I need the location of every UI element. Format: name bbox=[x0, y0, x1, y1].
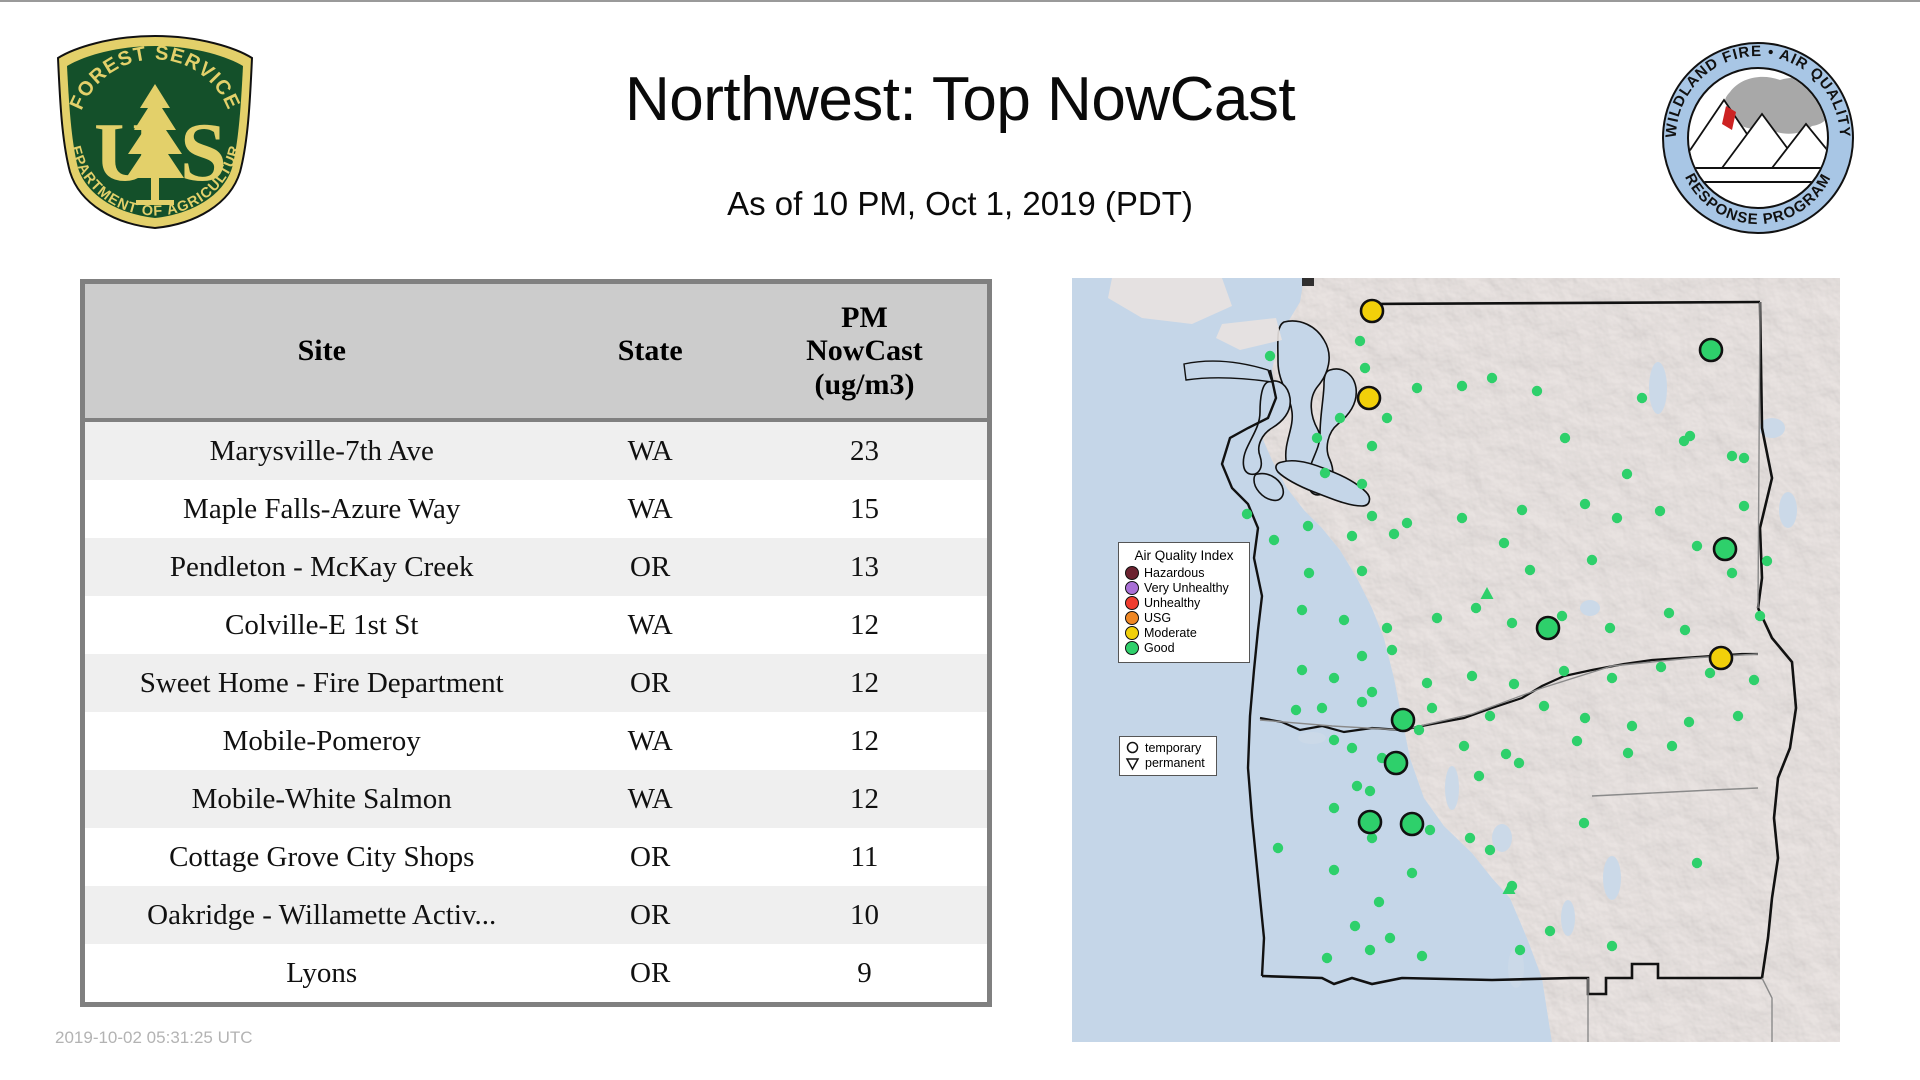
aqi-legend-item: Very Unhealthy bbox=[1125, 581, 1243, 595]
cell-pm: 13 bbox=[742, 538, 987, 596]
site-marker-good[interactable] bbox=[1517, 505, 1527, 515]
site-marker-good[interactable] bbox=[1755, 611, 1765, 621]
site-marker-good[interactable] bbox=[1727, 568, 1737, 578]
site-marker-good[interactable] bbox=[1509, 679, 1519, 689]
page-title: Northwest: Top NowCast bbox=[0, 64, 1920, 135]
site-marker-good[interactable] bbox=[1427, 703, 1437, 713]
aqi-legend-label: Very Unhealthy bbox=[1144, 582, 1229, 595]
aqi-legend-item: Hazardous bbox=[1125, 566, 1243, 580]
aqi-legend-item: USG bbox=[1125, 611, 1243, 625]
site-marker-good[interactable] bbox=[1339, 615, 1349, 625]
site-marker-good[interactable] bbox=[1762, 556, 1772, 566]
generated-timestamp: 2019-10-02 05:31:25 UTC bbox=[55, 1028, 253, 1048]
site-marker-good[interactable] bbox=[1667, 741, 1677, 751]
site-marker-good[interactable] bbox=[1422, 678, 1432, 688]
site-marker-highlighted[interactable] bbox=[1401, 813, 1423, 835]
aqi-color-swatch-icon bbox=[1125, 611, 1139, 625]
aqi-legend-label: Hazardous bbox=[1144, 567, 1204, 580]
site-marker-good[interactable] bbox=[1432, 613, 1442, 623]
site-marker-good[interactable] bbox=[1487, 373, 1497, 383]
site-marker-good[interactable] bbox=[1367, 833, 1377, 843]
site-marker-highlighted[interactable] bbox=[1392, 709, 1414, 731]
site-marker-good[interactable] bbox=[1607, 941, 1617, 951]
site-marker-good[interactable] bbox=[1329, 803, 1339, 813]
site-marker-good[interactable] bbox=[1607, 673, 1617, 683]
site-marker-good[interactable] bbox=[1572, 736, 1582, 746]
cell-state: OR bbox=[558, 654, 742, 712]
table-row[interactable]: Marysville-7th AveWA23 bbox=[85, 420, 987, 480]
site-marker-good[interactable] bbox=[1559, 666, 1569, 676]
site-marker-highlighted[interactable] bbox=[1700, 339, 1722, 361]
site-marker-good[interactable] bbox=[1637, 393, 1647, 403]
site-marker-good[interactable] bbox=[1425, 825, 1435, 835]
cell-state: WA bbox=[558, 596, 742, 654]
site-marker-good[interactable] bbox=[1335, 413, 1345, 423]
cell-state: OR bbox=[558, 538, 742, 596]
site-marker-good[interactable] bbox=[1685, 431, 1695, 441]
site-marker-good[interactable] bbox=[1465, 833, 1475, 843]
aqi-color-swatch-icon bbox=[1125, 596, 1139, 610]
site-marker-good[interactable] bbox=[1402, 518, 1412, 528]
cell-state: OR bbox=[558, 828, 742, 886]
site-marker-highlighted[interactable] bbox=[1359, 811, 1381, 833]
site-marker-highlighted[interactable] bbox=[1358, 387, 1380, 409]
cell-site: Sweet Home - Fire Department bbox=[85, 654, 558, 712]
site-marker-good[interactable] bbox=[1297, 665, 1307, 675]
table-row[interactable]: Colville-E 1st StWA12 bbox=[85, 596, 987, 654]
site-marker-good[interactable] bbox=[1539, 701, 1549, 711]
site-marker-good[interactable] bbox=[1580, 499, 1590, 509]
site-marker-good[interactable] bbox=[1352, 781, 1362, 791]
site-marker-good[interactable] bbox=[1705, 668, 1715, 678]
site-marker-good[interactable] bbox=[1739, 501, 1749, 511]
cell-site: Pendleton - McKay Creek bbox=[85, 538, 558, 596]
table-row[interactable]: Oakridge - Willamette Activ...OR10 bbox=[85, 886, 987, 944]
site-marker-good[interactable] bbox=[1501, 749, 1511, 759]
site-marker-good[interactable] bbox=[1273, 843, 1283, 853]
cell-pm: 10 bbox=[742, 886, 987, 944]
site-marker-good[interactable] bbox=[1471, 603, 1481, 613]
site-marker-good[interactable] bbox=[1304, 568, 1314, 578]
legend-temporary: temporary bbox=[1125, 741, 1211, 756]
aqi-legend-item: Moderate bbox=[1125, 626, 1243, 640]
site-marker-good[interactable] bbox=[1320, 468, 1330, 478]
site-marker-good[interactable] bbox=[1265, 351, 1275, 361]
site-marker-good[interactable] bbox=[1317, 703, 1327, 713]
site-marker-good[interactable] bbox=[1407, 868, 1417, 878]
cell-state: WA bbox=[558, 770, 742, 828]
site-marker-good[interactable] bbox=[1692, 858, 1702, 868]
site-marker-good[interactable] bbox=[1485, 711, 1495, 721]
site-marker-good[interactable] bbox=[1525, 565, 1535, 575]
site-marker-good[interactable] bbox=[1545, 926, 1555, 936]
cell-site: Marysville-7th Ave bbox=[85, 420, 558, 480]
site-marker-good[interactable] bbox=[1414, 725, 1424, 735]
pm-header-line2: NowCast bbox=[746, 334, 983, 368]
site-marker-good[interactable] bbox=[1367, 511, 1377, 521]
site-marker-good[interactable] bbox=[1291, 705, 1301, 715]
aqi-legend-label: Moderate bbox=[1144, 627, 1197, 640]
site-marker-good[interactable] bbox=[1587, 555, 1597, 565]
site-marker-good[interactable] bbox=[1749, 675, 1759, 685]
table-row[interactable]: Cottage Grove City ShopsOR11 bbox=[85, 828, 987, 886]
site-marker-good[interactable] bbox=[1303, 521, 1313, 531]
site-marker-good[interactable] bbox=[1355, 336, 1365, 346]
site-marker-good[interactable] bbox=[1560, 433, 1570, 443]
site-marker-good[interactable] bbox=[1365, 786, 1375, 796]
cell-site: Oakridge - Willamette Activ... bbox=[85, 886, 558, 944]
pm-header-line1: PM bbox=[746, 301, 983, 335]
cell-pm: 12 bbox=[742, 654, 987, 712]
site-marker-good[interactable] bbox=[1382, 623, 1392, 633]
cell-state: WA bbox=[558, 420, 742, 480]
site-marker-good[interactable] bbox=[1627, 721, 1637, 731]
site-marker-good[interactable] bbox=[1322, 953, 1332, 963]
aqi-color-swatch-icon bbox=[1125, 626, 1139, 640]
site-marker-good[interactable] bbox=[1622, 469, 1632, 479]
site-marker-good[interactable] bbox=[1357, 651, 1367, 661]
site-marker-good[interactable] bbox=[1329, 673, 1339, 683]
table-row[interactable]: Sweet Home - Fire DepartmentOR12 bbox=[85, 654, 987, 712]
site-type-legend: temporary permanent bbox=[1119, 736, 1217, 776]
circle-icon bbox=[1125, 741, 1140, 756]
site-marker-good[interactable] bbox=[1367, 441, 1377, 451]
site-marker-highlighted[interactable] bbox=[1537, 617, 1559, 639]
legend-temporary-label: temporary bbox=[1145, 742, 1201, 755]
cell-pm: 12 bbox=[742, 596, 987, 654]
site-marker-highlighted[interactable] bbox=[1714, 538, 1736, 560]
site-marker-good[interactable] bbox=[1457, 513, 1467, 523]
table-row[interactable]: LyonsOR9 bbox=[85, 944, 987, 1002]
table-header-row: Site State PM NowCast (ug/m3) bbox=[85, 284, 987, 420]
aqi-legend: Air Quality Index HazardousVery Unhealth… bbox=[1118, 542, 1250, 663]
cell-pm: 11 bbox=[742, 828, 987, 886]
site-marker-good[interactable] bbox=[1515, 945, 1525, 955]
site-marker-good[interactable] bbox=[1485, 845, 1495, 855]
site-marker-good[interactable] bbox=[1297, 605, 1307, 615]
site-marker-good[interactable] bbox=[1242, 509, 1252, 519]
site-marker-good[interactable] bbox=[1347, 743, 1357, 753]
site-marker-good[interactable] bbox=[1459, 741, 1469, 751]
site-marker-good[interactable] bbox=[1474, 771, 1484, 781]
cell-pm: 9 bbox=[742, 944, 987, 1002]
air-quality-map[interactable]: Air Quality Index HazardousVery Unhealth… bbox=[1072, 278, 1840, 1042]
cell-state: WA bbox=[558, 712, 742, 770]
site-marker-good[interactable] bbox=[1347, 531, 1357, 541]
site-marker-good[interactable] bbox=[1365, 945, 1375, 955]
site-marker-good[interactable] bbox=[1417, 951, 1427, 961]
site-marker-good[interactable] bbox=[1580, 713, 1590, 723]
site-marker-good[interactable] bbox=[1357, 566, 1367, 576]
cell-site: Mobile-Pomeroy bbox=[85, 712, 558, 770]
site-marker-good[interactable] bbox=[1387, 645, 1397, 655]
site-marker-good[interactable] bbox=[1532, 386, 1542, 396]
site-marker-good[interactable] bbox=[1382, 413, 1392, 423]
cell-site: Mobile-White Salmon bbox=[85, 770, 558, 828]
site-marker-good[interactable] bbox=[1656, 662, 1666, 672]
site-marker-good[interactable] bbox=[1579, 818, 1589, 828]
site-marker-good[interactable] bbox=[1360, 363, 1370, 373]
site-marker-good[interactable] bbox=[1357, 479, 1367, 489]
legend-permanent-label: permanent bbox=[1145, 757, 1205, 770]
site-marker-good[interactable] bbox=[1507, 618, 1517, 628]
site-marker-good[interactable] bbox=[1412, 383, 1422, 393]
column-header-state[interactable]: State bbox=[558, 284, 742, 420]
site-marker-good[interactable] bbox=[1739, 453, 1749, 463]
site-marker-good[interactable] bbox=[1312, 433, 1322, 443]
site-marker-good[interactable] bbox=[1457, 381, 1467, 391]
site-marker-good[interactable] bbox=[1733, 711, 1743, 721]
cell-state: OR bbox=[558, 944, 742, 1002]
aqi-legend-item: Good bbox=[1125, 641, 1243, 655]
site-marker-good[interactable] bbox=[1655, 506, 1665, 516]
site-marker-good[interactable] bbox=[1684, 717, 1694, 727]
site-marker-good[interactable] bbox=[1389, 529, 1399, 539]
site-marker-good[interactable] bbox=[1329, 735, 1339, 745]
aqi-color-swatch-icon bbox=[1125, 566, 1139, 580]
slide-root: FOREST SERVICE U S DEPARTMENT OF AGRICUL… bbox=[0, 2, 1920, 1080]
site-marker-good[interactable] bbox=[1692, 541, 1702, 551]
site-marker-good[interactable] bbox=[1385, 933, 1395, 943]
cell-state: WA bbox=[558, 480, 742, 538]
site-marker-good[interactable] bbox=[1499, 538, 1509, 548]
triangle-icon bbox=[1125, 756, 1140, 771]
site-marker-good[interactable] bbox=[1612, 513, 1622, 523]
table-row[interactable]: Mobile-PomeroyWA12 bbox=[85, 712, 987, 770]
column-header-pm-nowcast[interactable]: PM NowCast (ug/m3) bbox=[742, 284, 987, 420]
site-marker-good[interactable] bbox=[1623, 748, 1633, 758]
cell-site: Colville-E 1st St bbox=[85, 596, 558, 654]
site-marker-good[interactable] bbox=[1374, 897, 1384, 907]
aqi-legend-label: USG bbox=[1144, 612, 1171, 625]
column-header-site[interactable]: Site bbox=[85, 284, 558, 420]
site-marker-highlighted[interactable] bbox=[1710, 647, 1732, 669]
top-nowcast-table: Site State PM NowCast (ug/m3) Marysville… bbox=[80, 279, 992, 1007]
table-row[interactable]: Pendleton - McKay CreekOR13 bbox=[85, 538, 987, 596]
site-marker-good[interactable] bbox=[1269, 535, 1279, 545]
cell-state: OR bbox=[558, 886, 742, 944]
cell-site: Cottage Grove City Shops bbox=[85, 828, 558, 886]
site-marker-good[interactable] bbox=[1367, 687, 1377, 697]
site-marker-good[interactable] bbox=[1329, 865, 1339, 875]
site-marker-highlighted[interactable] bbox=[1385, 752, 1407, 774]
cell-pm: 15 bbox=[742, 480, 987, 538]
cell-site: Maple Falls-Azure Way bbox=[85, 480, 558, 538]
cell-pm: 12 bbox=[742, 770, 987, 828]
cell-site: Lyons bbox=[85, 944, 558, 1002]
aqi-color-swatch-icon bbox=[1125, 641, 1139, 655]
table-row[interactable]: Maple Falls-Azure WayWA15 bbox=[85, 480, 987, 538]
cell-pm: 12 bbox=[742, 712, 987, 770]
aqi-legend-label: Unhealthy bbox=[1144, 597, 1200, 610]
cell-pm: 23 bbox=[742, 420, 987, 480]
site-marker-good[interactable] bbox=[1357, 697, 1367, 707]
site-marker-good[interactable] bbox=[1350, 921, 1360, 931]
site-marker-good[interactable] bbox=[1514, 758, 1524, 768]
aqi-color-swatch-icon bbox=[1125, 581, 1139, 595]
legend-permanent: permanent bbox=[1125, 756, 1211, 771]
site-marker-good[interactable] bbox=[1727, 451, 1737, 461]
aqi-legend-item: Unhealthy bbox=[1125, 596, 1243, 610]
aqi-legend-title: Air Quality Index bbox=[1125, 548, 1243, 563]
aqi-legend-label: Good bbox=[1144, 642, 1175, 655]
site-marker-good[interactable] bbox=[1605, 623, 1615, 633]
site-marker-highlighted[interactable] bbox=[1361, 300, 1383, 322]
pm-header-line3: (ug/m3) bbox=[746, 368, 983, 402]
site-marker-good[interactable] bbox=[1557, 611, 1567, 621]
page-subtitle: As of 10 PM, Oct 1, 2019 (PDT) bbox=[0, 185, 1920, 223]
site-marker-good[interactable] bbox=[1467, 671, 1477, 681]
site-marker-good[interactable] bbox=[1680, 625, 1690, 635]
table-row[interactable]: Mobile-White SalmonWA12 bbox=[85, 770, 987, 828]
site-marker-good[interactable] bbox=[1664, 608, 1674, 618]
